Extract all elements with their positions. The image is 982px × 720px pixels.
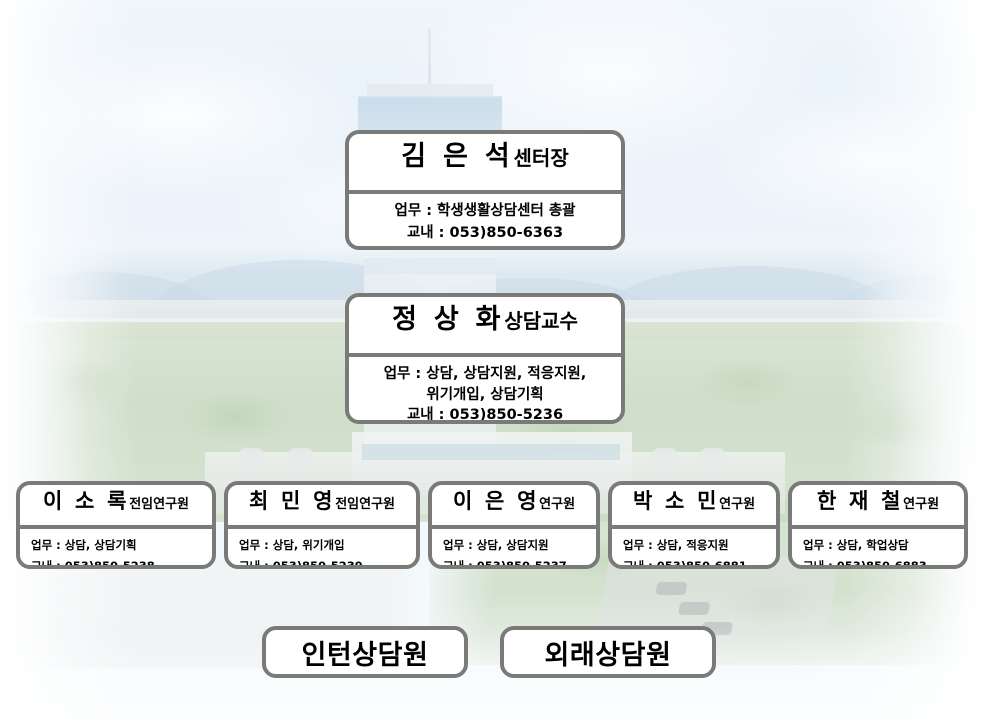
org-node-name: 한 재 철 <box>817 485 903 515</box>
org-node-title: 연구원 <box>903 493 939 512</box>
org-node-title: 연구원 <box>539 493 575 512</box>
org-node-details: 업무 : 상담, 학업상담 교내 : 053)850-6883 <box>792 529 964 569</box>
org-node-phone: 교내 : 053)850-5237 <box>443 556 596 569</box>
org-node-phone: 교내 : 053)850-5238 <box>31 556 212 569</box>
org-node-name: 이 소 록 <box>43 485 129 515</box>
org-node-intern-counselor[interactable]: 인턴상담원 <box>262 626 468 678</box>
org-node-staff[interactable]: 이 소 록 전임연구원 업무 : 상담, 상담기획 교내 : 053)850-5… <box>16 481 216 569</box>
org-node-details: 업무 : 상담, 적응지원 교내 : 053)850-6881 <box>612 529 776 569</box>
org-node-header: 정 상 화 상담교수 <box>349 297 621 353</box>
org-chart-page: 김 은 석 센터장 업무 : 학생생활상담센터 총괄 교내 : 053)850-… <box>0 0 982 720</box>
org-node-details: 업무 : 상담, 위기개입 교내 : 053)850-5239 <box>228 529 416 569</box>
org-node-title: 연구원 <box>719 493 755 512</box>
org-node-name: 정 상 화 <box>392 297 504 336</box>
org-node-title: 센터장 <box>514 142 569 171</box>
org-node-details: 업무 : 상담, 상담기획 교내 : 053)850-5238 <box>20 529 212 569</box>
org-node-details: 업무 : 학생생활상담센터 총괄 교내 : 053)850-6363 <box>349 194 621 250</box>
org-node-name: 이 은 영 <box>453 485 539 515</box>
org-node-duty: 업무 : 학생생활상담센터 총괄 <box>349 201 621 223</box>
org-node-duty: 업무 : 상담, 적응지원 <box>623 535 776 556</box>
org-node-name: 인턴상담원 <box>302 633 429 672</box>
org-node-phone: 교내 : 053)850-6883 <box>803 556 964 569</box>
org-node-name: 김 은 석 <box>401 134 513 173</box>
org-node-title: 전임연구원 <box>129 493 189 512</box>
org-node-header: 최 민 영 전임연구원 <box>228 485 416 525</box>
org-node-details: 업무 : 상담, 상담지원, 적응지원, 위기개입, 상담기획 교내 : 053… <box>349 357 621 424</box>
org-node-phone: 교내 : 053)850-6363 <box>349 223 621 245</box>
org-node-staff[interactable]: 최 민 영 전임연구원 업무 : 상담, 위기개입 교내 : 053)850-5… <box>224 481 420 569</box>
org-node-title: 전임연구원 <box>335 493 395 512</box>
org-node-duty: 업무 : 상담, 위기개입 <box>239 535 416 556</box>
org-node-header: 이 은 영 연구원 <box>432 485 596 525</box>
org-node-duty: 업무 : 상담, 상담지원, 적응지원, <box>349 364 621 385</box>
org-node-header: 김 은 석 센터장 <box>349 134 621 190</box>
org-node-phone: 교내 : 053)850-6881 <box>623 556 776 569</box>
org-node-phone: 교내 : 053)850-5236 <box>349 405 621 424</box>
org-node-name: 외래상담원 <box>545 633 672 672</box>
org-node-external-counselor[interactable]: 외래상담원 <box>500 626 716 678</box>
org-node-details: 업무 : 상담, 상담지원 교내 : 053)850-5237 <box>432 529 596 569</box>
org-node-staff[interactable]: 한 재 철 연구원 업무 : 상담, 학업상담 교내 : 053)850-688… <box>788 481 968 569</box>
org-node-title: 상담교수 <box>504 305 578 334</box>
org-node-header: 박 소 민 연구원 <box>612 485 776 525</box>
org-node-duty: 업무 : 상담, 상담지원 <box>443 535 596 556</box>
org-node-phone: 교내 : 053)850-5239 <box>239 556 416 569</box>
org-node-name: 박 소 민 <box>633 485 719 515</box>
org-node-duty-2: 위기개입, 상담기획 <box>349 385 621 406</box>
org-node-header: 한 재 철 연구원 <box>792 485 964 525</box>
org-node-director[interactable]: 김 은 석 센터장 업무 : 학생생활상담센터 총괄 교내 : 053)850-… <box>345 130 625 250</box>
org-node-duty: 업무 : 상담, 학업상담 <box>803 535 964 556</box>
org-node-header: 이 소 록 전임연구원 <box>20 485 212 525</box>
org-node-counseling-professor[interactable]: 정 상 화 상담교수 업무 : 상담, 상담지원, 적응지원, 위기개입, 상담… <box>345 293 625 424</box>
org-node-duty: 업무 : 상담, 상담기획 <box>31 535 212 556</box>
org-node-name: 최 민 영 <box>249 485 335 515</box>
org-node-staff[interactable]: 이 은 영 연구원 업무 : 상담, 상담지원 교내 : 053)850-523… <box>428 481 600 569</box>
org-node-staff[interactable]: 박 소 민 연구원 업무 : 상담, 적응지원 교내 : 053)850-688… <box>608 481 780 569</box>
